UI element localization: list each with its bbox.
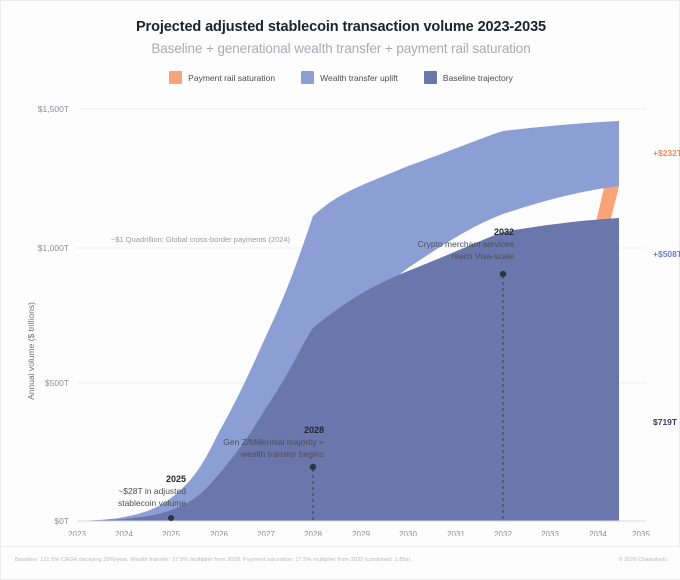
x-tick-label: 2034 [589, 530, 607, 536]
legend-label: Wealth transfer uplift [320, 73, 398, 83]
y-axis-title: Annual volume ($ trillions) [26, 302, 36, 400]
callout-line-2: reach Visa-scale [451, 251, 514, 261]
data-point-marker[interactable] [168, 515, 174, 521]
legend-label: Payment rail saturation [188, 73, 275, 83]
page-title: Projected adjusted stablecoin transactio… [1, 19, 680, 35]
callout-line-1: Crypto merchant services [418, 239, 514, 249]
legend-item-wealth-transfer-uplift[interactable]: Wealth transfer uplift [301, 71, 398, 84]
callout-year: 2025 [166, 474, 186, 484]
x-tick-label: 2023 [68, 530, 86, 536]
x-tick-label: 2035 [632, 530, 650, 536]
x-axis-ticks: 2023 2024 2025 2026 2027 2028 2029 2030 … [68, 530, 650, 536]
copyright-note: © 2026 Chainalysis [619, 557, 667, 563]
x-tick-label: 2025 [162, 530, 180, 536]
data-point-marker[interactable] [500, 271, 506, 277]
page-subtitle: Baseline + generational wealth transfer … [1, 41, 680, 56]
square-swatch-icon [169, 71, 182, 84]
y-axis-ticks: $1,500T $1,000T $500T $0T [38, 104, 69, 526]
y-tick-label: $1,500T [38, 104, 69, 114]
x-tick-label: 2030 [399, 530, 417, 536]
square-swatch-icon [424, 71, 437, 84]
legend-item-payment-rail-saturation[interactable]: Payment rail saturation [169, 71, 275, 84]
end-label-baseline-trajectory: $719T [653, 417, 678, 427]
legend-item-baseline-trajectory[interactable]: Baseline trajectory [424, 71, 513, 84]
area-chart: $1,500T $1,000T $500T $0T Annual volume … [1, 96, 680, 536]
end-label-payment-rail-saturation: +$232T [653, 148, 680, 158]
x-tick-label: 2024 [115, 530, 133, 536]
data-point-marker[interactable] [310, 464, 316, 470]
methodology-note: Baseline: 131.5% CAGR decaying 30%/year.… [15, 557, 412, 563]
callout-year: 2032 [494, 227, 514, 237]
legend-label: Baseline trajectory [443, 73, 513, 83]
stacked-areas [77, 121, 619, 521]
callout-year: 2028 [304, 425, 324, 435]
x-tick-label: 2027 [257, 530, 275, 536]
x-tick-label: 2032 [494, 530, 512, 536]
callout-line-1: Gen Z/Millennial majority + [223, 437, 324, 447]
y-tick-label: $500T [45, 378, 69, 388]
end-label-wealth-transfer-uplift: +$508T [653, 249, 680, 259]
x-tick-label: 2031 [447, 530, 465, 536]
chart-footer: Baseline: 131.5% CAGR decaying 30%/year.… [1, 546, 680, 579]
y-tick-label: $1,000T [38, 243, 69, 253]
chart-page: Projected adjusted stablecoin transactio… [0, 0, 680, 580]
square-swatch-icon [301, 71, 314, 84]
y-tick-label: $0T [54, 516, 69, 526]
callout-line-2: wealth transfer begins [240, 449, 324, 459]
chart-legend: Payment rail saturation Wealth transfer … [1, 71, 680, 84]
x-tick-label: 2029 [352, 530, 370, 536]
x-tick-label: 2028 [304, 530, 322, 536]
annotation-quadrillion-note: ~$1 Quadrillion: Global cross-border pay… [111, 235, 291, 244]
x-tick-label: 2033 [541, 530, 559, 536]
callout-line-1: ~$28T in adjusted [118, 486, 186, 496]
x-tick-label: 2026 [210, 530, 228, 536]
series-end-labels: +$232T +$508T $719T [653, 148, 680, 427]
callout-line-2: stablecoin volume [118, 498, 186, 508]
